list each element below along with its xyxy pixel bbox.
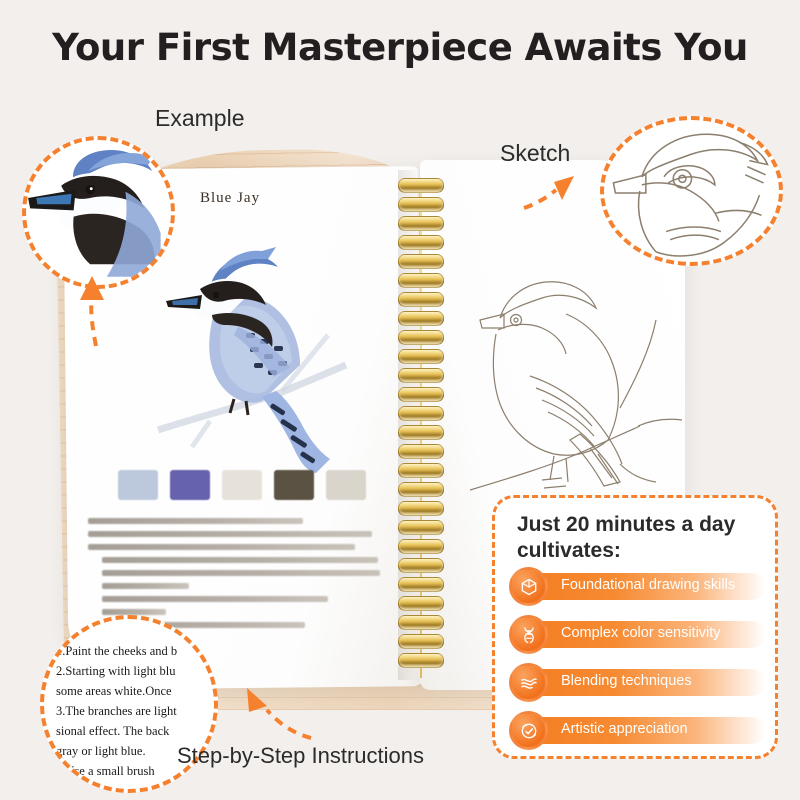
- label-example: Example: [155, 105, 244, 132]
- spiral-coil: [398, 615, 444, 630]
- spiral-coil: [398, 254, 444, 269]
- color-swatch: [222, 470, 262, 500]
- eye-emblem-icon: [509, 711, 548, 750]
- spiral-coil: [398, 558, 444, 573]
- line-art-blue-jay-sketch: [470, 258, 685, 508]
- spiral-coil: [398, 273, 444, 288]
- spiral-coil: [398, 653, 444, 668]
- color-swatch: [326, 470, 366, 500]
- blue-jay-head-sketch-zoom: [604, 120, 779, 262]
- poster-canvas: Your First Masterpiece Awaits You Blue J…: [0, 0, 800, 800]
- magnifier-example: [22, 136, 175, 289]
- spiral-coil: [398, 216, 444, 231]
- instruction-line: 2.Starting with light blu: [56, 661, 218, 681]
- spiral-coil: [398, 311, 444, 326]
- spiral-coil: [398, 463, 444, 478]
- spiral-coil: [398, 292, 444, 307]
- spiral-coil: [398, 577, 444, 592]
- benefit-label: Foundational drawing skills: [561, 577, 735, 593]
- spiral-coil: [398, 178, 444, 193]
- spiral-coil: [398, 349, 444, 364]
- spiral-coil: [398, 330, 444, 345]
- spiral-coil: [398, 501, 444, 516]
- spiral-coil: [398, 235, 444, 250]
- instruction-line: sional effect. The back: [56, 721, 218, 741]
- instruction-line: 3.The branches are light: [56, 701, 218, 721]
- arrow-to-instructions: [215, 660, 325, 750]
- cube-icon: [509, 567, 548, 606]
- spiral-coil: [398, 197, 444, 212]
- spiral-coil: [398, 368, 444, 383]
- spiral-coil: [398, 634, 444, 649]
- watercolor-blue-jay-illustration: [150, 215, 350, 480]
- benefits-card: Just 20 minutes a day cultivates: Founda…: [492, 495, 778, 759]
- magnifier-sketch: [600, 116, 783, 266]
- arrow-to-example: [50, 270, 140, 350]
- dna-icon: [509, 615, 548, 654]
- waves-icon: [509, 663, 548, 702]
- color-swatch: [118, 470, 158, 500]
- page-title: Your First Masterpiece Awaits You: [0, 26, 800, 69]
- benefit-pill[interactable]: Complex color sensitivity: [517, 621, 765, 648]
- label-sketch: Sketch: [500, 140, 570, 167]
- blue-jay-head-zoom: [26, 140, 171, 285]
- spiral-coil: [398, 520, 444, 535]
- spiral-binding: [398, 178, 444, 678]
- benefit-pill[interactable]: Artistic appreciation: [517, 717, 765, 744]
- spiral-coil: [398, 387, 444, 402]
- benefit-label: Blending techniques: [561, 673, 692, 689]
- label-steps: Step-by-Step Instructions: [177, 743, 424, 769]
- instruction-line: 1.Paint the cheeks and b: [56, 641, 218, 661]
- spiral-coil: [398, 482, 444, 497]
- benefits-heading: Just 20 minutes a day cultivates:: [517, 512, 767, 564]
- spiral-coil: [398, 444, 444, 459]
- spiral-coil: [398, 425, 444, 440]
- instruction-line: some areas white.Once: [56, 681, 218, 701]
- color-swatch: [170, 470, 210, 500]
- benefit-label: Complex color sensitivity: [561, 625, 721, 641]
- benefit-label: Artistic appreciation: [561, 721, 688, 737]
- benefit-pill[interactable]: Blending techniques: [517, 669, 765, 696]
- color-swatch: [274, 470, 314, 500]
- arrow-to-sketch: [520, 160, 610, 220]
- illustration-title: Blue Jay: [200, 190, 260, 207]
- spiral-coil: [398, 596, 444, 611]
- spiral-coil: [398, 539, 444, 554]
- benefit-pill[interactable]: Foundational drawing skills: [517, 573, 765, 600]
- spiral-coil: [398, 406, 444, 421]
- color-swatch-row: [118, 470, 368, 502]
